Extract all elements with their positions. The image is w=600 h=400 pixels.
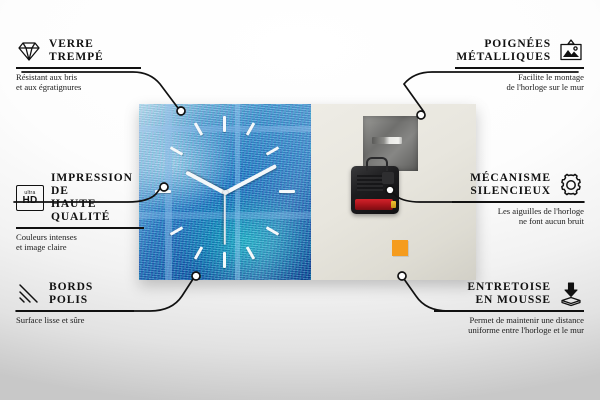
callout-sub-line1: Permet de maintenir une distance [434,315,584,326]
callout-sub-line1: Surface lisse et sûre [16,315,134,326]
callout-sub-line2: ne font aucun bruit [452,216,584,227]
clock-tick [223,252,226,268]
battery [355,199,393,210]
callout-rule [452,201,584,203]
polished-edges-icon [16,281,42,307]
callout-title-line2: SILENCIEUX [470,185,551,198]
callout-sub-line1: Couleurs intenses [16,232,144,243]
hanging-loop [366,157,388,171]
callout-metal-handles: POIGNÉES MÉTALLIQUES Facilite le montage… [455,38,584,93]
callout-header: ultra HD IMPRESSION DE HAUTE QUALITÉ [16,172,144,224]
callout-sub-line1: Les aiguilles de l'horloge [452,206,584,217]
product-photo [139,104,476,280]
callout-rule [16,310,134,312]
callout-sub-line1: Résistant aux bris [16,72,141,83]
callout-print-quality: ultra HD IMPRESSION DE HAUTE QUALITÉ Cou… [16,172,144,253]
callout-title-line1: VERRE [49,38,104,51]
hanger-slot [372,137,402,144]
callout-sub-line2: et image claire [16,242,144,253]
callout-rule [434,310,584,312]
ultra-hd-icon-bottom: HD [22,196,37,206]
callout-title-line2: POLIS [49,294,93,307]
callout-sub-line2: et aux égratignures [16,82,141,93]
callout-title-line2: EN MOUSSE [467,294,551,307]
clock-tick [279,190,295,193]
callout-header: BORDS POLIS [16,281,134,307]
callout-title-line1: ENTRETOISE [467,281,551,294]
quartz-movement [351,166,399,214]
clock-second-hand [224,193,226,245]
arrow-down-onto-pad-icon [558,281,584,307]
callout-title-line1: IMPRESSION DE [51,172,144,198]
movement-label [357,175,383,191]
callout-sub-line2: de l'horloge sur le mur [455,82,584,93]
callout-tempered-glass: VERRE TREMPÉ Résistant aux bris et aux é… [16,38,141,93]
infographic-canvas: VERRE TREMPÉ Résistant aux bris et aux é… [0,0,600,400]
callout-silent-mechanism: MÉCANISME SILENCIEUX Les aiguilles de l'… [452,172,584,227]
callout-header: ENTRETOISE EN MOUSSE [434,281,584,307]
foam-spacer [392,240,408,256]
ultra-hd-icon: ultra HD [16,185,44,211]
callout-rule [16,67,141,69]
clock-tick [223,116,226,132]
clock-face-image [139,104,311,280]
callout-rule [16,227,144,229]
callout-title-line2: TREMPÉ [49,51,104,64]
callout-title-line1: POIGNÉES [456,38,551,51]
callout-sub-line1: Facilite le montage [455,72,584,83]
callout-rule [455,67,584,69]
picture-frame-hanging-icon [558,38,584,64]
callout-title-line2: HAUTE QUALITÉ [51,198,144,224]
callout-title-line2: MÉTALLIQUES [456,51,551,64]
diamond-icon [16,38,42,64]
clock-tick [155,190,171,193]
callout-header: POIGNÉES MÉTALLIQUES [455,38,584,64]
callout-title-line1: MÉCANISME [470,172,551,185]
callout-header: VERRE TREMPÉ [16,38,141,64]
callout-title-line1: BORDS [49,281,93,294]
clock-center-hub [223,190,228,195]
callout-header: MÉCANISME SILENCIEUX [452,172,584,198]
callout-foam-spacer: ENTRETOISE EN MOUSSE Permet de maintenir… [434,281,584,336]
movement-dial [382,172,394,184]
callout-polished-edges: BORDS POLIS Surface lisse et sûre [16,281,134,325]
callout-sub-line2: uniforme entre l'horloge et le mur [434,325,584,336]
gear-icon [558,172,584,198]
